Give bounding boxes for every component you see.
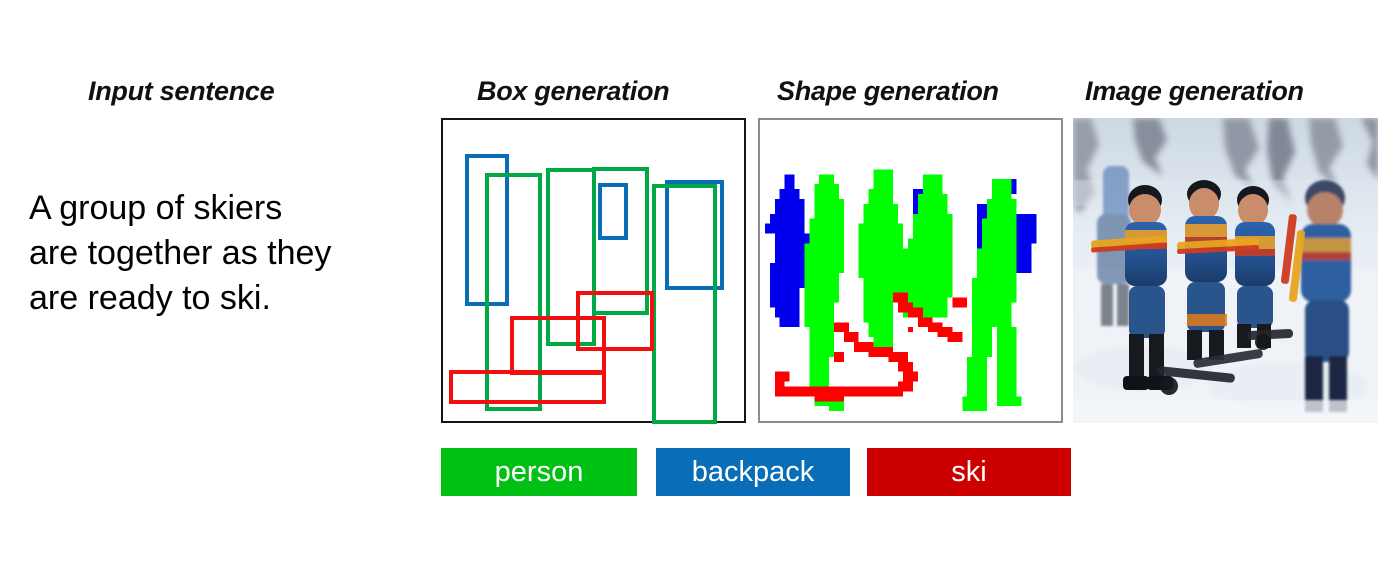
shape-generation-panel <box>758 118 1063 423</box>
column-header-box-generation: Box generation <box>477 76 669 107</box>
column-header-image-generation: Image generation <box>1085 76 1304 107</box>
segmentation-mask-svg <box>760 120 1061 421</box>
legend-label-person: person <box>495 458 584 487</box>
column-header-input-sentence: Input sentence <box>88 76 274 107</box>
bounding-box-layer <box>443 120 744 421</box>
generated-skiers-image <box>1073 118 1378 423</box>
bounding-box-ski <box>449 370 606 404</box>
box-generation-panel <box>441 118 746 423</box>
legend-chip-backpack: backpack <box>656 448 850 496</box>
legend-chip-person: person <box>441 448 637 496</box>
bounding-box-ski <box>510 316 606 375</box>
bounding-box-person <box>652 184 717 424</box>
input-sentence-text: A group of skiers are together as they a… <box>29 186 429 322</box>
legend-chip-ski: ski <box>867 448 1071 496</box>
column-header-shape-generation: Shape generation <box>777 76 999 107</box>
image-generation-panel <box>1073 118 1378 423</box>
legend-label-backpack: backpack <box>692 458 815 487</box>
legend-label-ski: ski <box>951 458 986 487</box>
